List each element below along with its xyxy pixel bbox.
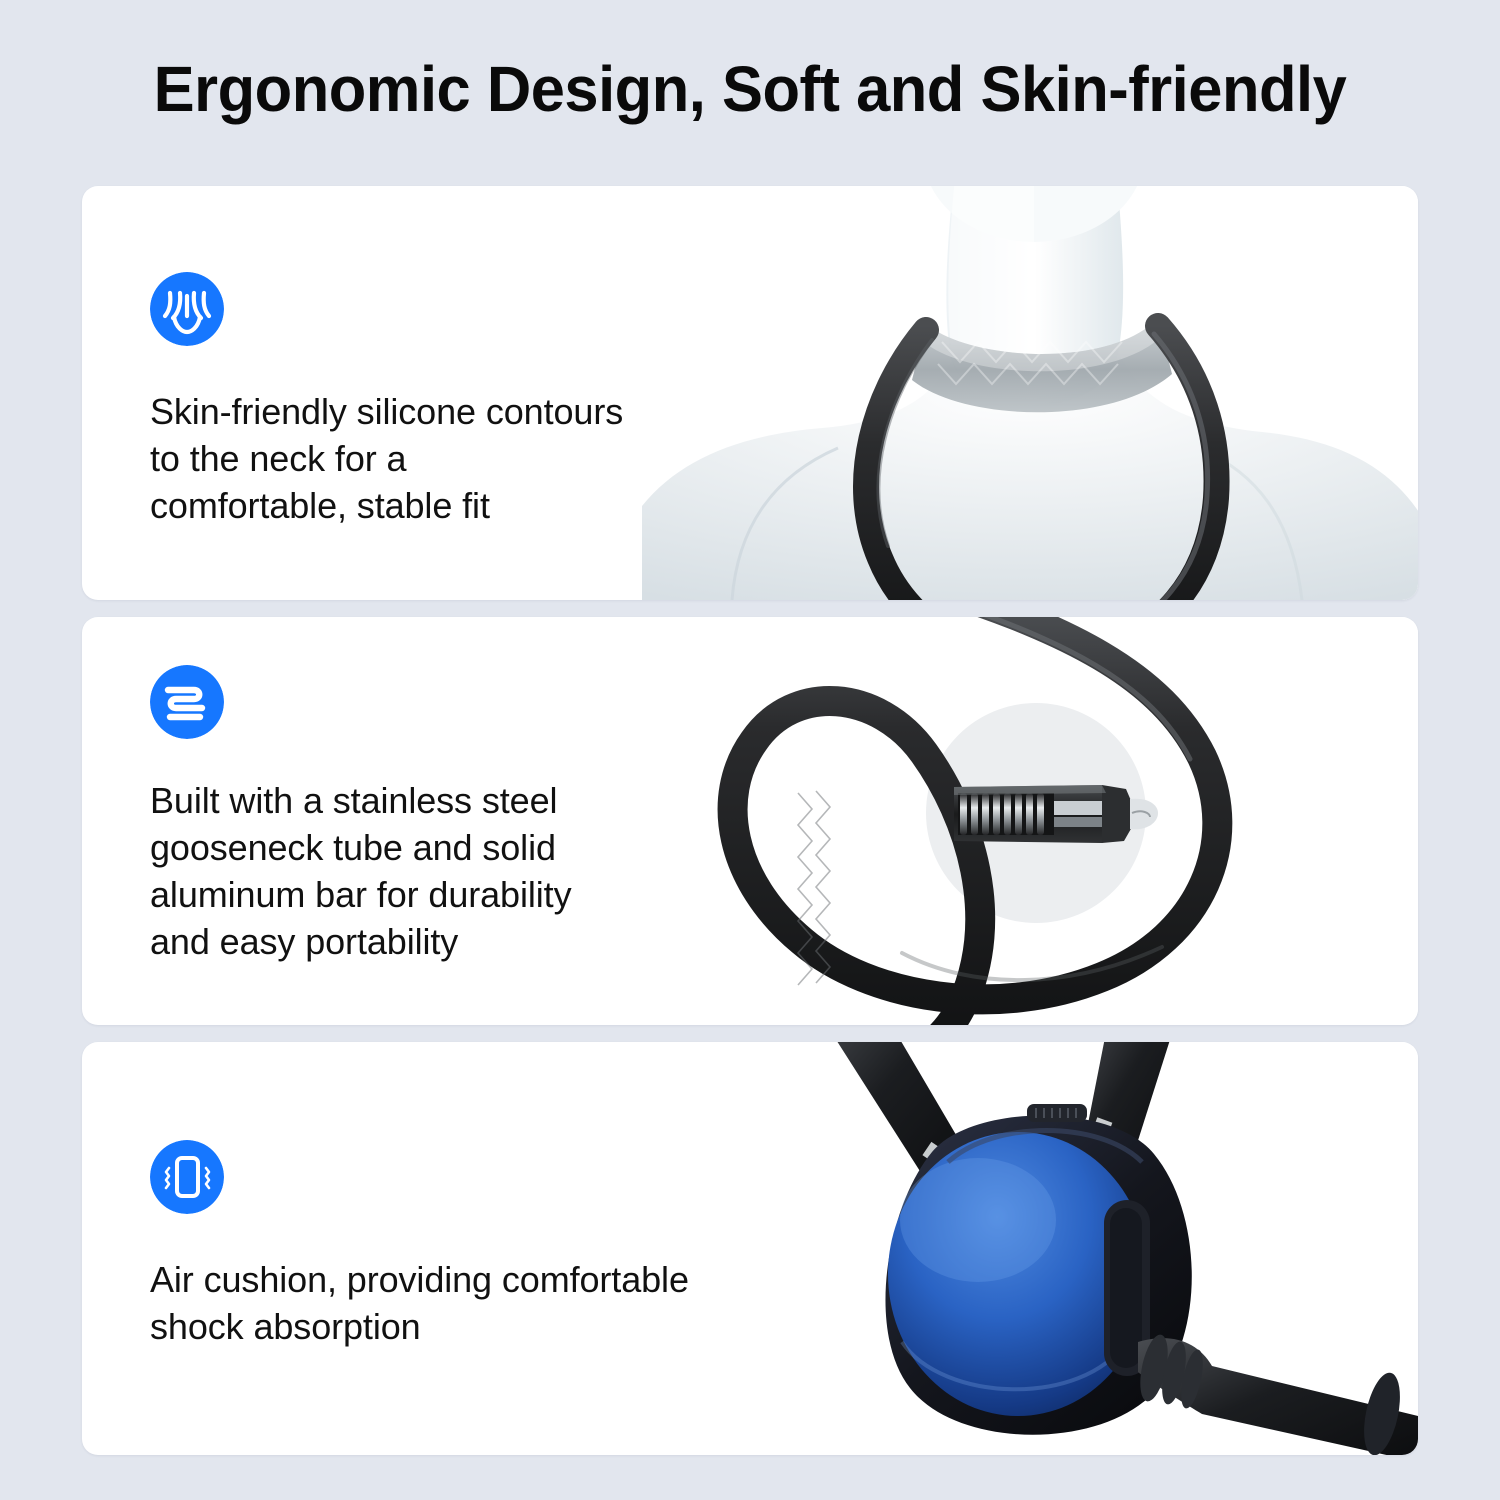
neck-contour-icon — [150, 272, 224, 346]
card-1-text-block: Skin-friendly silicone contours to the n… — [150, 272, 623, 529]
feature-card-skin-friendly-silicone: Skin-friendly silicone contours to the n… — [82, 186, 1418, 600]
card-1-product-image — [642, 186, 1418, 600]
card-2-product-image — [602, 617, 1418, 1025]
gooseneck-tube-icon — [150, 665, 224, 739]
card-2-text-block: Built with a stainless steel gooseneck t… — [150, 665, 571, 965]
card-3-description: Air cushion, providing comfortable shock… — [150, 1256, 689, 1350]
card-1-description: Skin-friendly silicone contours to the n… — [150, 388, 623, 529]
feature-card-stainless-steel-gooseneck: Built with a stainless steel gooseneck t… — [82, 617, 1418, 1025]
infographic-page: Ergonomic Design, Soft and Skin-friendly — [0, 0, 1500, 1500]
feature-card-air-cushion: Air cushion, providing comfortable shock… — [82, 1042, 1418, 1455]
card-2-description: Built with a stainless steel gooseneck t… — [150, 777, 571, 965]
card-3-product-image — [782, 1042, 1418, 1455]
vibration-cushion-icon — [150, 1140, 224, 1214]
card-3-text-block: Air cushion, providing comfortable shock… — [150, 1140, 689, 1350]
page-title: Ergonomic Design, Soft and Skin-friendly — [30, 52, 1470, 126]
